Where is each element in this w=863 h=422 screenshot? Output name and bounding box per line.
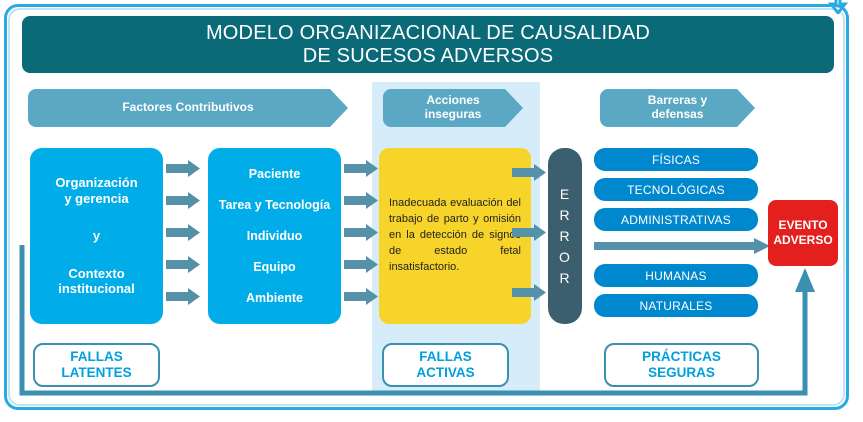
footer-safe-line-2: SEGURAS [648,365,715,380]
footer-active-line-1: FALLAS [419,349,472,364]
barrier-label-fisicas: FÍSICAS [652,153,700,167]
barrier-item-tecnologicas: TECNOLÓGICAS [594,178,758,201]
error-letter-3: R [559,226,570,247]
diagram-canvas: MODELO ORGANIZACIONAL DE CAUSALIDAD DE S… [0,0,863,422]
footer-active-line-2: ACTIVAS [416,365,474,380]
barrier-label-naturales: NATURALES [640,299,713,313]
barrier-item-administrativas: ADMINISTRATIVAS [594,208,758,231]
section-header-barriers-line-2: defensas [651,107,703,121]
section-header-contributive-factors-label: Factores Contributivos [122,101,253,115]
section-header-unsafe-actions-line-2: inseguras [425,107,482,121]
factor-item-ambiente: Ambiente [246,291,303,305]
barrier-label-administrativas: ADMINISTRATIVAS [621,213,731,227]
factor-item-individuo: Individuo [247,229,303,243]
organization-label: Organización y gerencia [55,175,137,206]
footer-latent-failures: FALLAS LATENTES [33,343,160,387]
error-letter-5: R [559,268,570,289]
footer-safe-line-1: PRÁCTICAS [642,349,721,364]
organization-conjunction: y [93,228,100,244]
factor-item-equipo: Equipo [253,260,295,274]
page-title: MODELO ORGANIZACIONAL DE CAUSALIDAD DE S… [22,16,834,73]
institutional-context-label: Contexto institucional [58,266,135,297]
error-letter-1: E [560,184,570,205]
context-line-1: Contexto [68,266,124,281]
footer-latent-line-1: FALLAS [70,349,123,364]
section-header-contributive-factors: Factores Contributivos [28,89,348,127]
barrier-item-naturales: NATURALES [594,294,758,317]
adverse-event-box: EVENTO ADVERSO [768,200,838,266]
breakthrough-arrow-icon [594,238,770,254]
error-letter-4: O [559,247,571,268]
context-line-2: institucional [58,281,135,296]
title-line-2: DE SUCESOS ADVERSOS [303,45,554,67]
barrier-label-humanas: HUMANAS [645,269,706,283]
adverse-event-line-2: ADVERSO [773,233,832,247]
section-header-barriers-defenses: Barreras y defensas [600,89,755,127]
barrier-label-tecnologicas: TECNOLÓGICAS [627,183,725,197]
footer-active-failures: FALLAS ACTIVAS [382,343,509,387]
section-header-unsafe-actions: Acciones inseguras [383,89,523,127]
contributive-factors-box: Paciente Tarea y Tecnología Individuo Eq… [208,148,341,324]
section-header-barriers-line-1: Barreras y [648,93,707,107]
factor-item-paciente: Paciente [249,167,300,181]
barrier-item-fisicas: FÍSICAS [594,148,758,171]
organization-line-2: y gerencia [64,191,128,206]
error-column: E R R O R [548,148,582,324]
unsafe-action-text: Inadecuada evaluación del trabajo de par… [389,196,521,276]
top-right-arrow-icon [823,0,853,14]
factor-item-tarea-tecnologia: Tarea y Tecnología [219,198,330,212]
error-letter-2: R [559,205,570,226]
adverse-event-line-1: EVENTO [778,218,827,232]
section-header-unsafe-actions-line-1: Acciones [426,93,479,107]
footer-safe-practices: PRÁCTICAS SEGURAS [604,343,759,387]
organization-management-box: Organización y gerencia y Contexto insti… [30,148,163,324]
barrier-item-humanas: HUMANAS [594,264,758,287]
footer-latent-line-2: LATENTES [61,365,131,380]
organization-line-1: Organización [55,175,137,190]
title-line-1: MODELO ORGANIZACIONAL DE CAUSALIDAD [206,22,650,44]
unsafe-action-description-box: Inadecuada evaluación del trabajo de par… [379,148,531,324]
